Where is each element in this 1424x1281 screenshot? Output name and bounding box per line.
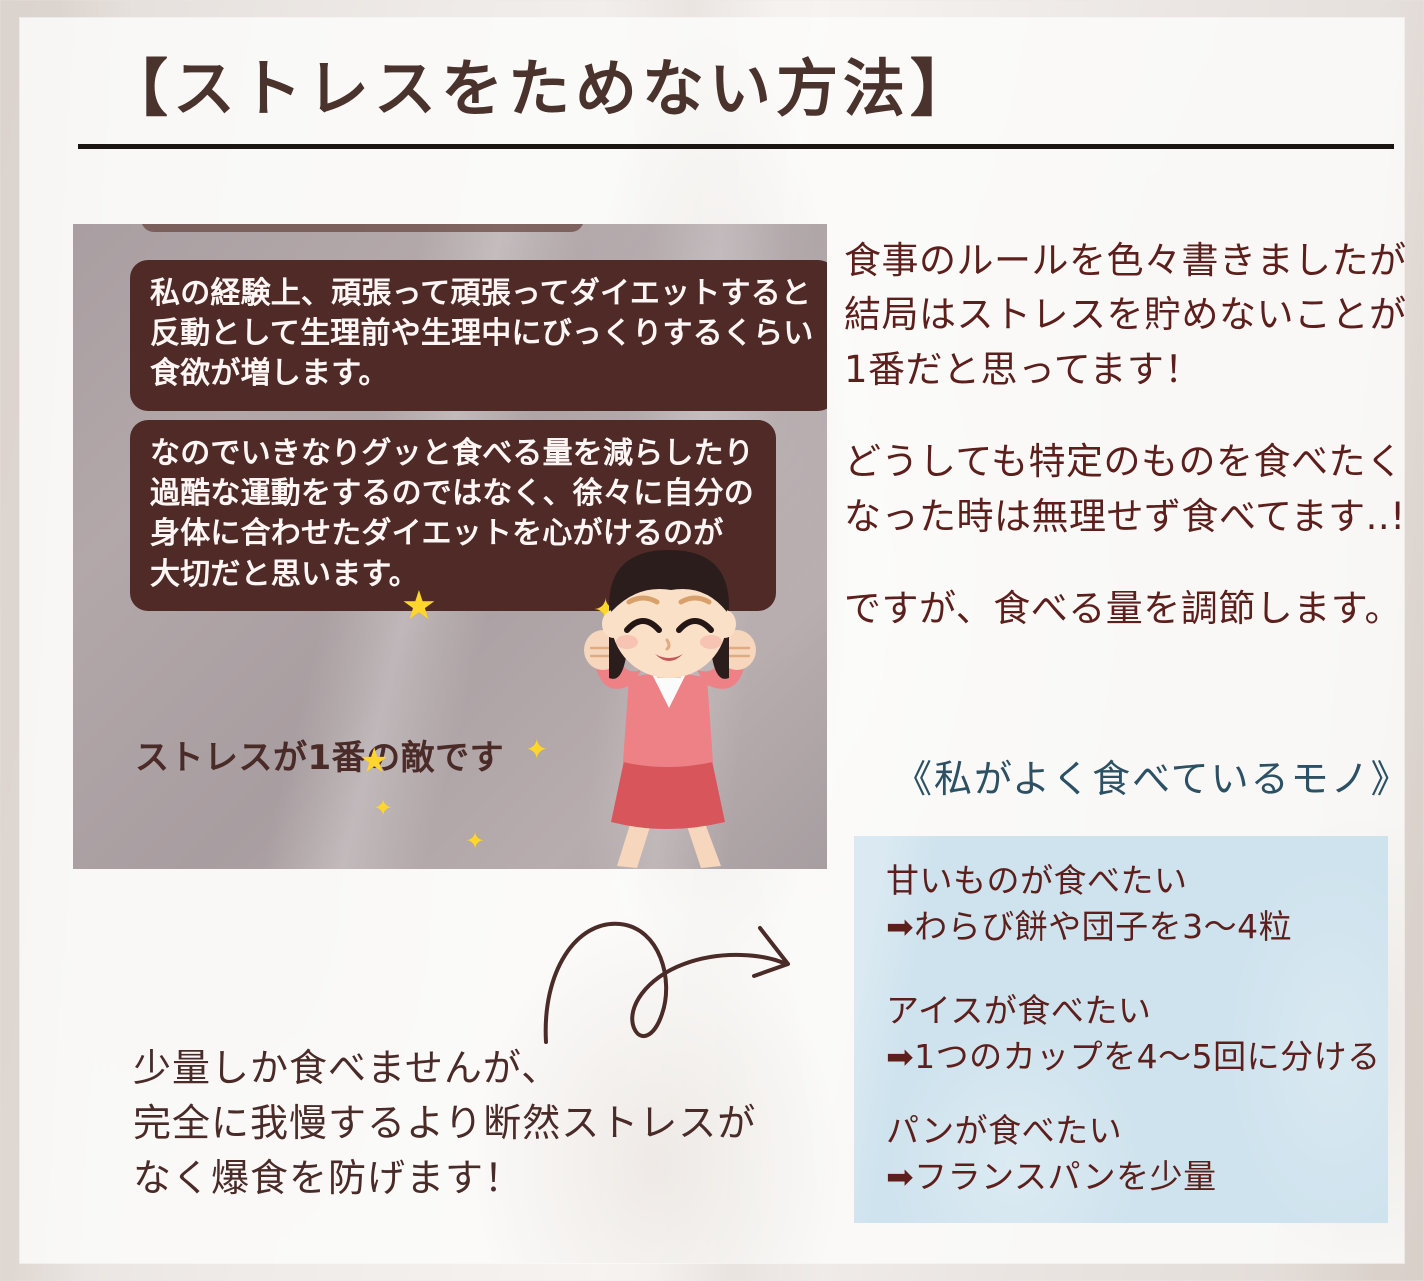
food-item-answer: ➡フランスパンを少量 bbox=[886, 1154, 1217, 1200]
happy-girl-cheering-illustration bbox=[525, 550, 827, 868]
bottom-left-paragraph: 少量しか食べませんが、 完全に我慢するより断然ストレスが なく爆食を防げます！ bbox=[133, 1041, 756, 1206]
bottom-left-line-2: 完全に我慢するより断然ストレスが bbox=[133, 1096, 756, 1151]
sparkle-star-icon: ✦ bbox=[465, 829, 485, 853]
bubble2-line-3: 身体に合わせたダイエットを心がけるのが bbox=[150, 514, 754, 554]
right-p2-line-1: どうしても特定のものを食べたく bbox=[844, 435, 1424, 489]
curved-loop-arrow bbox=[536, 902, 828, 1044]
food-item-want: アイスが食べたい bbox=[886, 988, 1381, 1034]
right-p1-line-2: 結局はストレスを貯めないことが bbox=[844, 288, 1424, 342]
right-p3-line-1: ですが、食べる量を調節します。 bbox=[844, 582, 1424, 636]
infographic-page: 【ストレスをためない方法】 私の経験上、頑張って頑張ってダイエットすると 反動と… bbox=[0, 0, 1424, 1281]
right-paragraph-1: 食事のルールを色々書きましたが 結局はストレスを貯めないことが 1番だと思ってま… bbox=[844, 234, 1424, 397]
bottom-left-line-1: 少量しか食べませんが、 bbox=[133, 1041, 756, 1096]
title-divider bbox=[78, 144, 1394, 149]
food-list-box: 甘いものが食べたい ➡わらび餅や団子を3〜4粒 アイスが食べたい ➡1つのカップ… bbox=[854, 836, 1388, 1223]
food-item-answer: ➡1つのカップを4〜5回に分ける bbox=[886, 1034, 1381, 1080]
bottom-left-line-3: なく爆食を防げます！ bbox=[133, 1151, 756, 1206]
sparkle-star-icon: ★ bbox=[359, 744, 389, 778]
bubble2-line-2: 過酷な運動をするのではなく、徐々に自分の bbox=[150, 474, 754, 514]
food-item-answer: ➡わらび餅や団子を3〜4粒 bbox=[886, 904, 1292, 950]
bubble2-line-1: なのでいきなりグッと食べる量を減らしたり bbox=[150, 434, 754, 474]
right-paragraph-2: どうしても特定のものを食べたく なった時は無理せず食べてます..! bbox=[844, 435, 1424, 544]
page-title: 【ストレスをためない方法】 bbox=[106, 56, 977, 121]
screenshot-panel: 私の経験上、頑張って頑張ってダイエットすると 反動として生理前や生理中にびっくり… bbox=[73, 224, 827, 869]
speech-bubble-1: 私の経験上、頑張って頑張ってダイエットすると 反動として生理前や生理中にびっくり… bbox=[130, 260, 827, 411]
right-column: 食事のルールを色々書きましたが 結局はストレスを貯めないことが 1番だと思ってま… bbox=[844, 234, 1424, 674]
food-item: パンが食べたい ➡フランスパンを少量 bbox=[886, 1108, 1217, 1199]
food-item: 甘いものが食べたい ➡わらび餅や団子を3〜4粒 bbox=[886, 858, 1292, 949]
section-heading-foods: 《私がよく食べているモノ》 bbox=[894, 748, 1411, 803]
food-item: アイスが食べたい ➡1つのカップを4〜5回に分ける bbox=[886, 988, 1381, 1079]
bubble1-line-1: 私の経験上、頑張って頑張ってダイエットすると bbox=[150, 274, 814, 314]
cut-off-bubble-strip bbox=[141, 224, 584, 232]
food-item-want: 甘いものが食べたい bbox=[886, 858, 1292, 904]
sparkle-star-icon: ★ bbox=[401, 586, 437, 626]
sparkle-star-icon: ✦ bbox=[373, 796, 393, 820]
right-paragraph-3: ですが、食べる量を調節します。 bbox=[844, 582, 1424, 636]
food-item-want: パンが食べたい bbox=[886, 1108, 1217, 1154]
content-card: 【ストレスをためない方法】 私の経験上、頑張って頑張ってダイエットすると 反動と… bbox=[20, 18, 1404, 1263]
right-p1-line-1: 食事のルールを色々書きましたが bbox=[844, 234, 1424, 288]
right-p1-line-3: 1番だと思ってます！ bbox=[844, 343, 1424, 397]
right-p2-line-2: なった時は無理せず食べてます..! bbox=[844, 490, 1424, 544]
bubble1-line-2: 反動として生理前や生理中にびっくりするくらい bbox=[150, 314, 814, 354]
bubble1-line-3: 食欲が増します。 bbox=[150, 354, 814, 394]
panel-caption: ストレスが1番の敵です bbox=[135, 730, 504, 779]
